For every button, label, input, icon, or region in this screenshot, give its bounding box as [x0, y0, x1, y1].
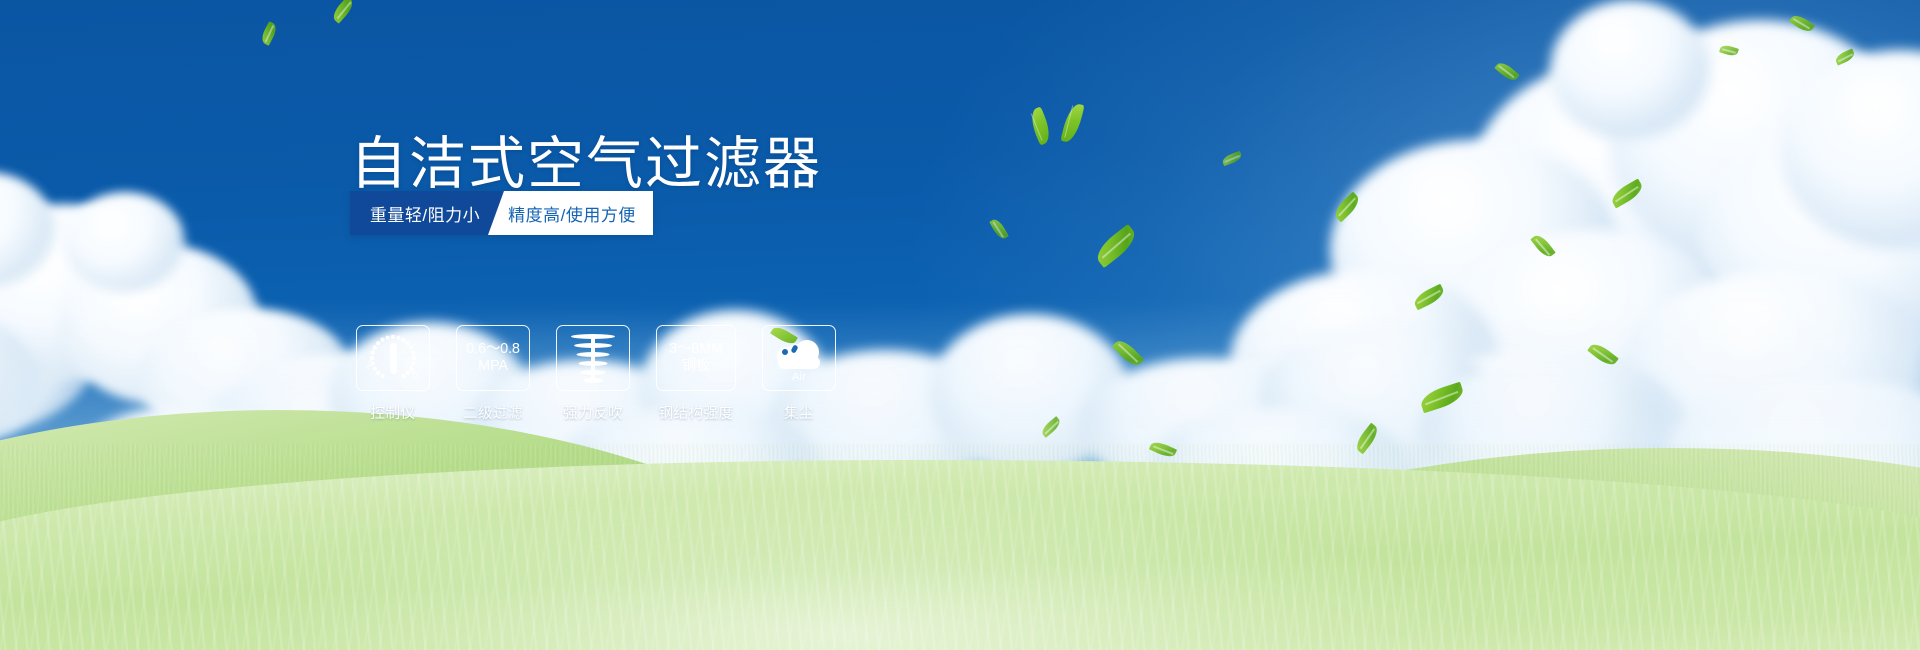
steel-plate-word: 钢板 [669, 358, 723, 375]
tag-bar: 重量轻/阻力小 精度高/使用方便 [350, 191, 653, 235]
feature-item-back-blow[interactable]: 强力反吹 [556, 325, 630, 423]
feature-label: 钢结构强度 [659, 402, 734, 423]
steel-plate-text-icon: 3～8MM 钢板 [669, 341, 723, 374]
feature-icon-box [556, 325, 630, 391]
pressure-range: 0.6～0.8 [466, 341, 519, 357]
air-cloud-icon: Air [773, 334, 825, 382]
feature-icon-box: 3～8MM 钢板 [656, 325, 736, 391]
dial-label-off: OFF [407, 366, 420, 381]
feature-label: 控制仪 [371, 402, 416, 423]
feature-item-dust-collection[interactable]: Air 集尘 [762, 325, 836, 423]
hero-banner: 自洁式空气过滤器 重量轻/阻力小 精度高/使用方便 [0, 0, 1920, 650]
feature-item-steel-strength[interactable]: 3～8MM 钢板 钢结构强度 [656, 325, 736, 423]
feature-icon-box: 0.6～0.8 MPA [456, 325, 530, 391]
feature-label: 强力反吹 [563, 402, 623, 423]
feature-item-controller[interactable]: NO OFF 控制仪 [356, 325, 430, 423]
pressure-unit: MPA [466, 358, 519, 375]
grass-ground [0, 350, 1920, 650]
filter-stack-icon [570, 332, 616, 384]
tag-label: 重量轻/阻力小 [370, 201, 480, 226]
feature-list: NO OFF 控制仪 0.6～0.8 MPA 二级过滤 [356, 325, 836, 423]
pressure-text-icon: 0.6～0.8 MPA [466, 341, 519, 374]
control-dial-icon: NO OFF [366, 333, 420, 383]
dial-needle [390, 343, 397, 374]
tag-precision-convenience[interactable]: 精度高/使用方便 [488, 191, 653, 235]
tag-label: 精度高/使用方便 [508, 201, 636, 226]
feature-item-two-stage-filter[interactable]: 0.6～0.8 MPA 二级过滤 [456, 325, 530, 423]
field-light-sheen [0, 450, 1920, 650]
steel-thickness: 3～8MM [669, 341, 723, 357]
tag-weight-resistance[interactable]: 重量轻/阻力小 [350, 191, 502, 235]
feature-label: 二级过滤 [463, 402, 523, 423]
air-label: Air [773, 371, 825, 383]
feature-icon-box: NO OFF [356, 325, 430, 391]
page-title: 自洁式空气过滤器 [350, 118, 822, 200]
feature-icon-box: Air [762, 325, 836, 391]
feature-label: 集尘 [784, 402, 814, 423]
